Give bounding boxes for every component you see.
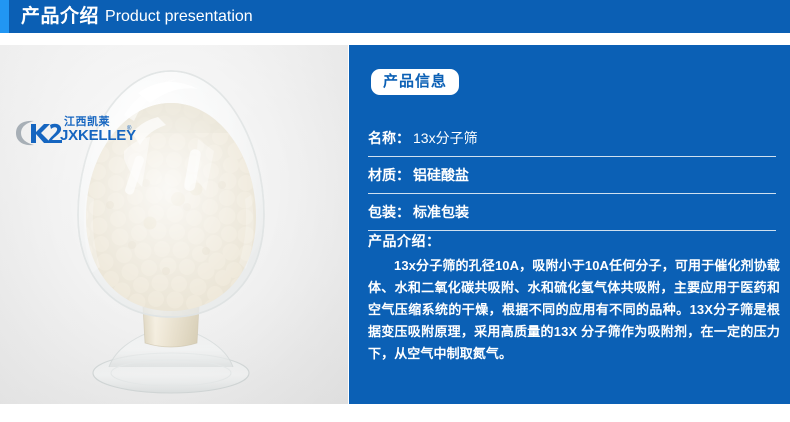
spec-value-material: 铝硅酸盐 (413, 165, 469, 185)
spec-label-material: 材质： (368, 165, 410, 185)
description-body: 13x分子筛的孔径10A，吸附小于10A任何分子，可用于催化剂协载体、水和二氧化… (368, 255, 780, 365)
k2-logo-mark-icon (14, 119, 64, 147)
spec-label-packaging: 包装： (368, 202, 410, 222)
brand-name-en: JXKELLEY (60, 127, 136, 144)
header-accent-stripe (0, 0, 9, 33)
page-title-en: Product presentation (105, 0, 253, 33)
product-info-panel: 产品信息 名称： 13x分子筛 材质： 铝硅酸盐 包装： 标准包装 产品介绍： … (349, 45, 790, 404)
product-presentation-page: 产品介绍 Product presentation (0, 0, 790, 422)
glass-vessel-with-beads-illustration (46, 55, 296, 403)
brand-watermark-logo: 江西凯莱 JXKELLEY ® (14, 113, 132, 149)
section-header-bar: 产品介绍 Product presentation (0, 0, 790, 33)
spec-row-material: 材质： 铝硅酸盐 (368, 157, 776, 194)
registered-trademark-icon: ® (127, 126, 131, 132)
spec-label-name: 名称： (368, 128, 410, 148)
description-title: 产品介绍： (368, 231, 780, 251)
spec-row-name: 名称： 13x分子筛 (368, 120, 776, 157)
page-title-cn: 产品介绍 (21, 0, 99, 33)
product-info-badge: 产品信息 (371, 69, 459, 95)
product-photo: 江西凯莱 JXKELLEY ® (0, 45, 348, 404)
spec-row-packaging: 包装： 标准包装 (368, 194, 776, 231)
product-description-block: 产品介绍： 13x分子筛的孔径10A，吸附小于10A任何分子，可用于催化剂协载体… (368, 231, 780, 365)
product-spec-list: 名称： 13x分子筛 材质： 铝硅酸盐 包装： 标准包装 (368, 120, 776, 231)
spec-value-packaging: 标准包装 (413, 202, 469, 222)
spec-value-name: 13x分子筛 (413, 128, 478, 148)
